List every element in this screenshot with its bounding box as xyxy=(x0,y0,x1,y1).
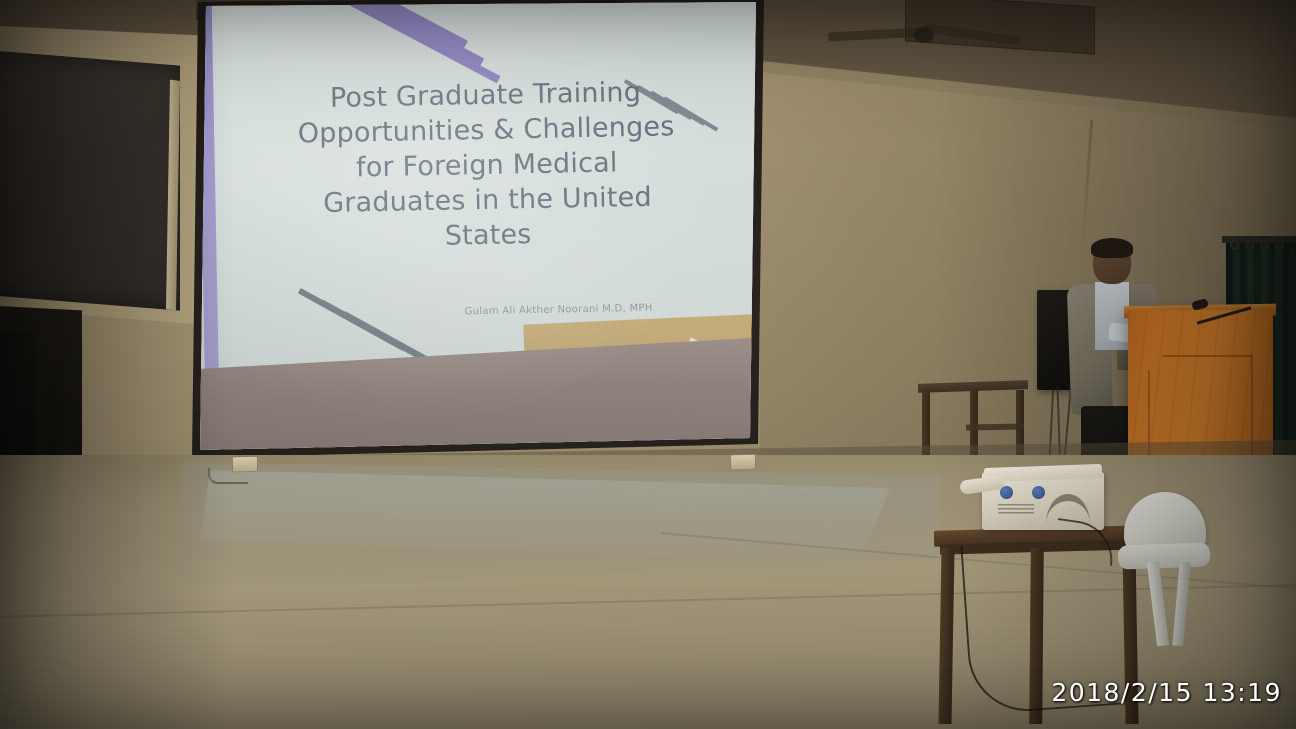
chair-seat xyxy=(1118,542,1211,569)
chair-leg xyxy=(1172,562,1190,647)
blackboard xyxy=(0,50,180,310)
presentation-slide[interactable]: Post Graduate Training Opportunities & C… xyxy=(200,2,756,450)
curtain-ring xyxy=(1275,240,1284,250)
curtain-rings xyxy=(1226,240,1296,252)
photograph-canvas: Post Graduate Training Opportunities & C… xyxy=(0,0,1296,729)
projector-knob[interactable] xyxy=(1032,486,1045,499)
microphone-boom xyxy=(1197,306,1252,324)
projection-screen-surface[interactable]: Post Graduate Training Opportunities & C… xyxy=(200,2,756,450)
fan-blade-left xyxy=(828,27,924,41)
wall-power-outlet[interactable] xyxy=(730,454,756,470)
microphone xyxy=(1196,300,1256,322)
outlet-wire xyxy=(208,468,248,484)
curtain-ring xyxy=(1245,240,1254,250)
presenter-hair xyxy=(1091,238,1133,258)
projector-vent xyxy=(998,504,1034,516)
fan-hub xyxy=(914,27,934,43)
plastic-chair[interactable] xyxy=(1118,492,1214,647)
projector-knob[interactable] xyxy=(1000,486,1013,499)
curtain-ring xyxy=(1230,240,1239,250)
slide-title: Post Graduate Training Opportunities & C… xyxy=(235,73,738,258)
curtain-ring xyxy=(1260,240,1269,250)
fan-blade-right xyxy=(924,23,1020,45)
stand-rail xyxy=(966,423,1024,430)
ceiling-fan xyxy=(828,18,1018,54)
chair-leg xyxy=(1147,562,1169,647)
camera-timestamp: 2018/2/15 13:19 xyxy=(1051,678,1282,707)
table-leg xyxy=(938,548,954,724)
